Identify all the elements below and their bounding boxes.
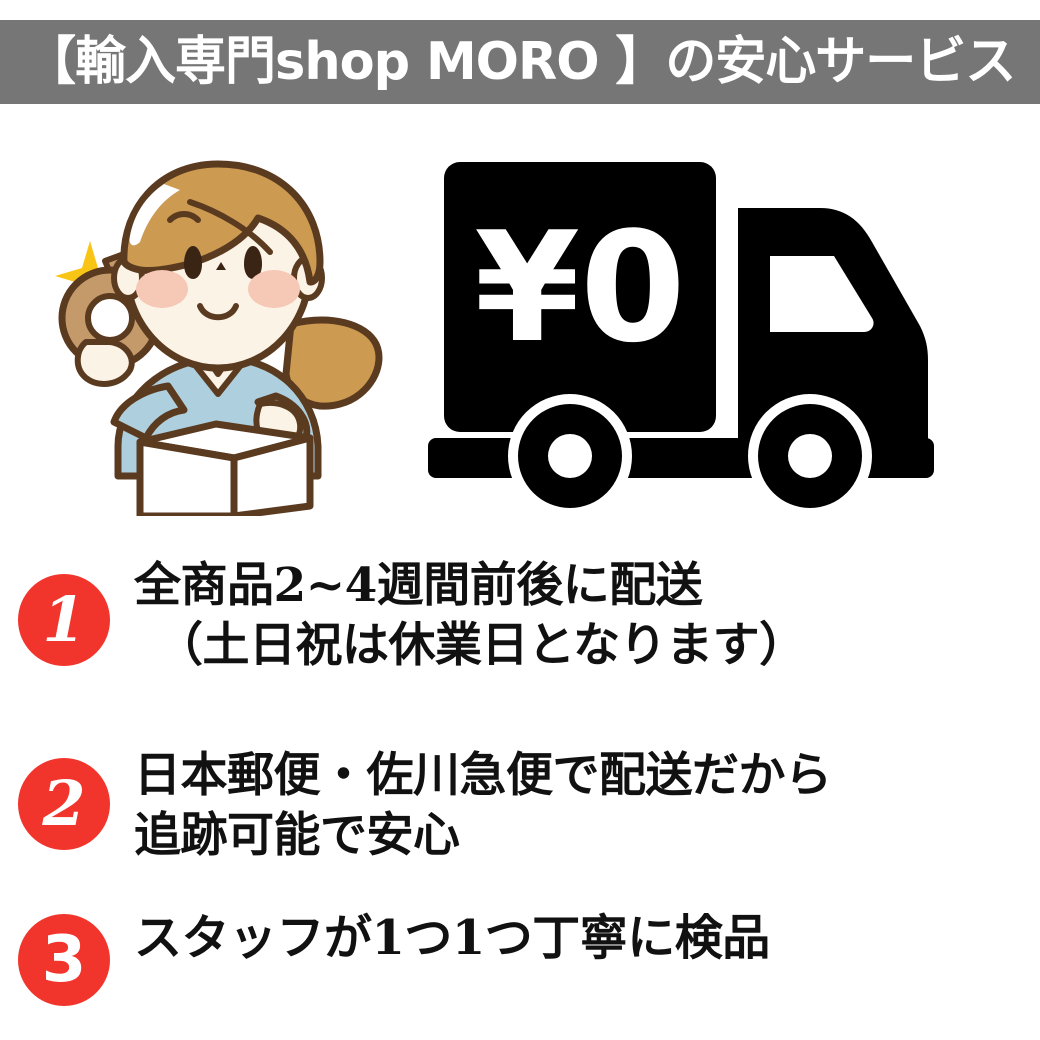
benefit-text-2-line2: 追跡可能で安心 xyxy=(134,806,832,866)
truck-rear-wheel-hub xyxy=(548,434,592,478)
left-hand-shape xyxy=(78,342,132,384)
benefits-list: 1 全商品2~4週間前後に配送 （土日祝は休業日となります） 2 日本郵便・佐川… xyxy=(0,548,1040,1040)
benefit-text-2-line1: 日本郵便・佐川急便で配送だから xyxy=(134,748,832,803)
cheek-right xyxy=(248,270,300,308)
benefit-text-3-line1: スタッフが1つ1つ丁寧に検品 xyxy=(134,910,770,966)
truck-cargo-label: ¥0 xyxy=(474,199,686,376)
truck-front-wheel-hub xyxy=(788,434,832,478)
benefit-text-3: スタッフが1つ1つ丁寧に検品 xyxy=(134,908,770,969)
benefit-text-1: 全商品2~4週間前後に配送 （土日祝は休業日となります） xyxy=(134,556,806,676)
illustration-row: ¥0 xyxy=(0,118,1040,538)
delivery-truck-icon: ¥0 xyxy=(420,150,1010,510)
staff-woman-icon xyxy=(48,146,418,516)
benefit-item-1: 1 全商品2~4週間前後に配送 （土日祝は休業日となります） xyxy=(0,556,1040,676)
free-shipping-truck-illustration: ¥0 xyxy=(420,150,1010,510)
staff-woman-illustration xyxy=(48,146,418,516)
header-banner: 【輸入専門shop MORO 】の安心サービス xyxy=(0,20,1040,104)
magnifier-inner-lens xyxy=(88,296,132,340)
benefit-badge-3: 3 xyxy=(18,914,110,1006)
box-front-face xyxy=(140,442,234,516)
benefit-text-1-line1: 全商品2~4週間前後に配送 xyxy=(134,558,702,613)
benefit-text-2: 日本郵便・佐川急便で配送だから 追跡可能で安心 xyxy=(134,746,832,866)
benefit-badge-1: 1 xyxy=(18,574,110,666)
benefit-item-3: 3 スタッフが1つ1つ丁寧に検品 xyxy=(0,908,1040,1006)
benefit-item-2: 2 日本郵便・佐川急便で配送だから 追跡可能で安心 xyxy=(0,746,1040,866)
benefit-badge-2: 2 xyxy=(18,758,110,850)
cheek-left xyxy=(136,270,188,308)
page-title: 【輸入専門shop MORO 】の安心サービス xyxy=(25,36,1015,88)
benefit-text-1-line2: （土日祝は休業日となります） xyxy=(134,616,806,676)
